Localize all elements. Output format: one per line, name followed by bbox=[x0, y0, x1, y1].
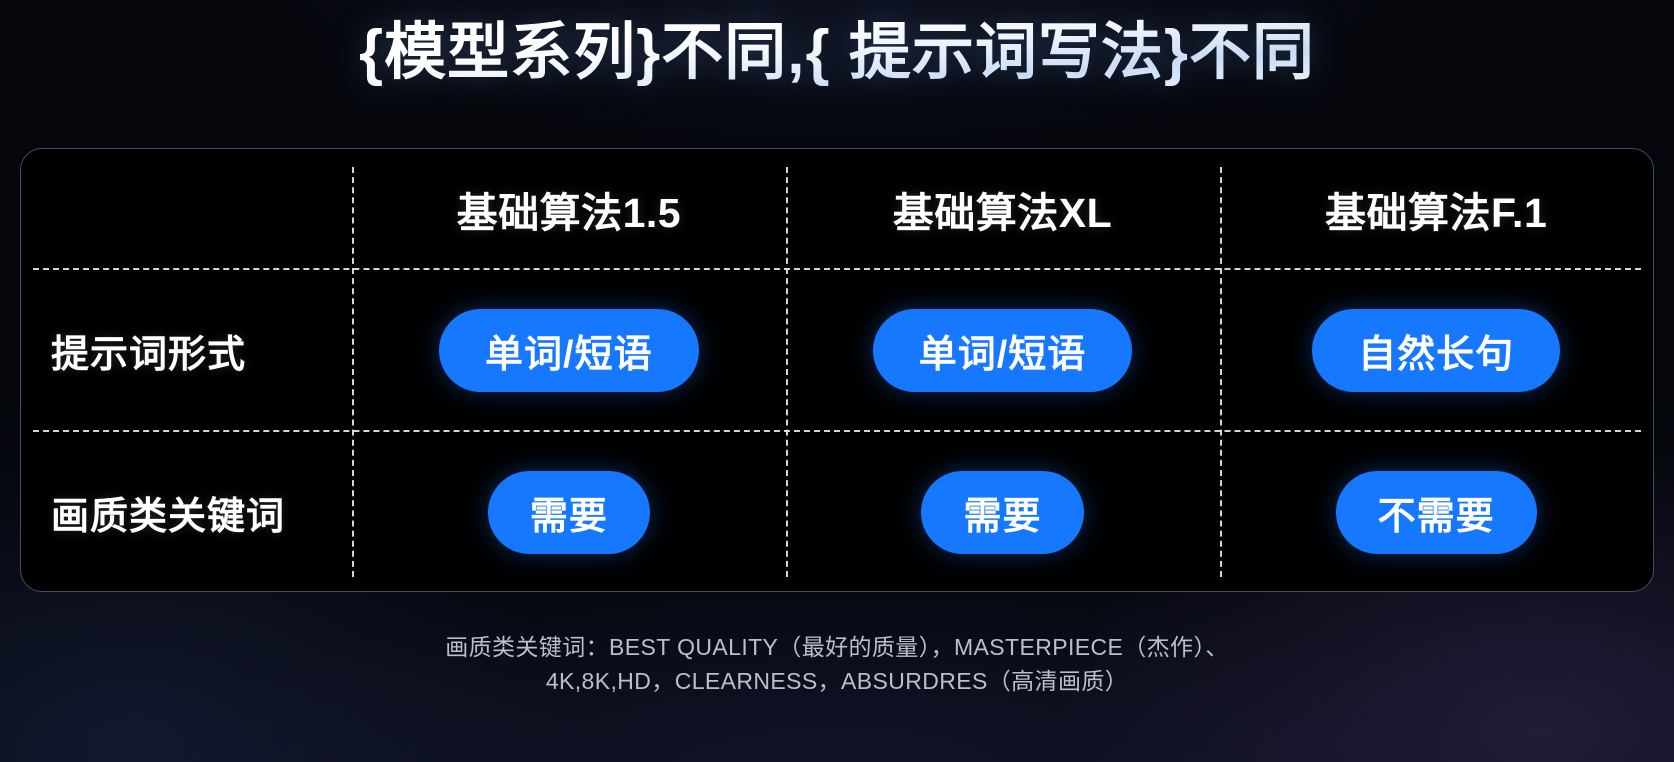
row-header-quality-keywords: 画质类关键词 bbox=[21, 431, 352, 592]
column-header-label: 基础算法1.5 bbox=[457, 179, 682, 239]
slide-root: {模型系列}不同,{ 提示词写法}不同 基础算法1.5 基础算法XL 基础算法F… bbox=[0, 0, 1674, 762]
value-pill: 需要 bbox=[488, 471, 650, 554]
column-header-label: 基础算法F.1 bbox=[1325, 179, 1547, 239]
footnote: 画质类关键词：BEST QUALITY（最好的质量），MASTERPIECE（杰… bbox=[0, 630, 1674, 698]
table-cell-prompt-form-col3: 自然长句 bbox=[1219, 269, 1653, 431]
row-header-prompt-form: 提示词形式 bbox=[21, 269, 352, 431]
value-pill: 单词/短语 bbox=[439, 309, 699, 392]
table-cell-prompt-form-col1: 单词/短语 bbox=[352, 269, 786, 431]
table-cell-prompt-form-col2: 单词/短语 bbox=[786, 269, 1220, 431]
table-cell-quality-col1: 需要 bbox=[352, 431, 786, 592]
column-header-label: 基础算法XL bbox=[893, 179, 1112, 239]
table-grid: 基础算法1.5 基础算法XL 基础算法F.1 提示词形式 单词/短语 单词/短语… bbox=[21, 149, 1653, 591]
page-title: {模型系列}不同,{ 提示词写法}不同 bbox=[0, 6, 1674, 100]
footnote-line-2: 4K,8K,HD，CLEARNESS，ABSURDRES（高清画质） bbox=[0, 664, 1674, 698]
value-pill: 自然长句 bbox=[1312, 309, 1560, 392]
column-header-1: 基础算法1.5 bbox=[352, 149, 786, 269]
table-cell-quality-col3: 不需要 bbox=[1219, 431, 1653, 592]
column-header-2: 基础算法XL bbox=[786, 149, 1220, 269]
footnote-line-1: 画质类关键词：BEST QUALITY（最好的质量），MASTERPIECE（杰… bbox=[0, 630, 1674, 664]
row-header-label: 画质类关键词 bbox=[51, 485, 285, 540]
comparison-table: 基础算法1.5 基础算法XL 基础算法F.1 提示词形式 单词/短语 单词/短语… bbox=[20, 148, 1654, 592]
value-pill: 需要 bbox=[921, 471, 1083, 554]
table-corner-cell bbox=[21, 149, 352, 269]
column-header-3: 基础算法F.1 bbox=[1219, 149, 1653, 269]
value-pill: 不需要 bbox=[1336, 471, 1537, 554]
table-cell-quality-col2: 需要 bbox=[786, 431, 1220, 592]
value-pill: 单词/短语 bbox=[873, 309, 1133, 392]
row-header-label: 提示词形式 bbox=[51, 323, 246, 378]
